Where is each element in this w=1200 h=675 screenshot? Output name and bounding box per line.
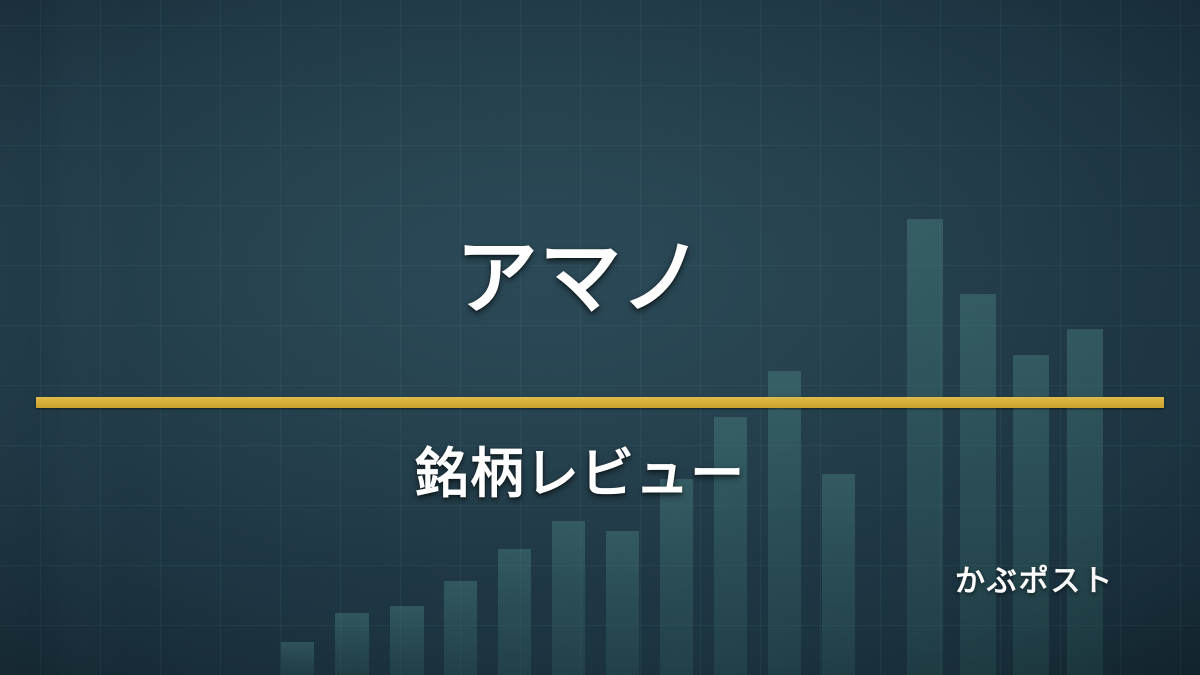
chart-bar: [390, 606, 424, 675]
chart-bar: [498, 549, 531, 675]
chart-bar: [822, 474, 855, 675]
chart-bar: [768, 371, 801, 675]
chart-bar: [281, 642, 314, 675]
page-title: アマノ: [0, 238, 1160, 320]
gold-divider-rule: [36, 397, 1164, 408]
page-subtitle: 銘柄レビュー: [0, 447, 1160, 501]
slide-canvas: アマノ 銘柄レビュー かぶポスト: [0, 0, 1200, 675]
chart-bar: [335, 613, 369, 675]
chart-bar: [660, 479, 693, 675]
brand-label: かぶポスト: [955, 567, 1114, 597]
chart-bar: [444, 581, 477, 675]
chart-bar: [552, 521, 585, 675]
chart-bar: [1067, 329, 1103, 675]
chart-bar: [606, 531, 639, 675]
